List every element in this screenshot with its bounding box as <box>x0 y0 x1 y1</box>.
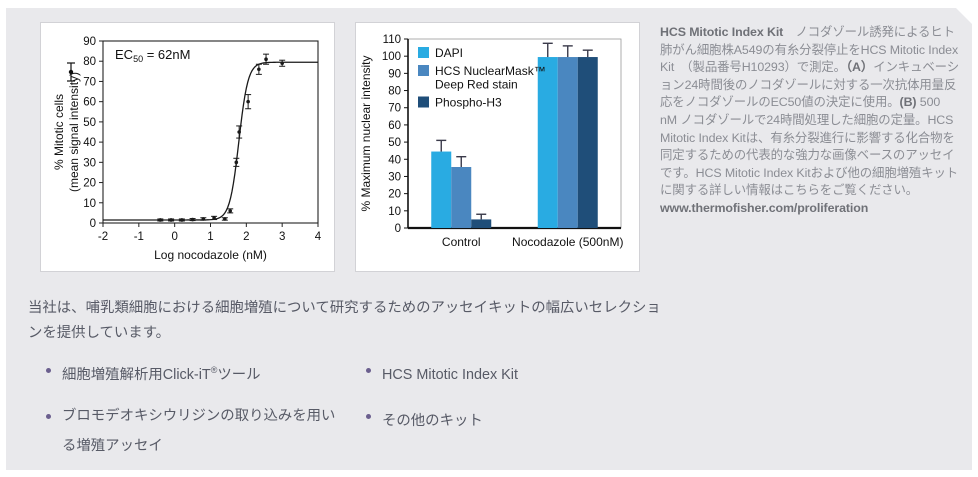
fitted-curve <box>103 62 318 220</box>
legend-swatch <box>418 65 429 76</box>
data-point <box>257 68 261 72</box>
data-point <box>235 161 239 165</box>
list-item[interactable]: 細胞増殖解析用Click-iT®ツール <box>42 358 342 388</box>
bullet-column-left: 細胞増殖解析用Click-iT®ツール ブロモデオキシウリジンの取り込みを用いる… <box>42 358 342 475</box>
data-point <box>180 218 184 222</box>
y-axis-label-line1: % Mitotic cells <box>52 94 66 170</box>
data-point <box>246 100 250 104</box>
body-paragraph: 当社は、哺乳類細胞における細胞増殖について研究するためのアッセイキットの幅広いセ… <box>28 296 668 346</box>
y-axis-label-line2: (mean signal intensity) <box>67 72 81 192</box>
bar <box>451 167 471 228</box>
bar <box>578 57 598 228</box>
y-tick-label: 40 <box>83 137 96 149</box>
figure-a-dose-response: 0102030405060708090-2-101234Log nocodazo… <box>40 22 335 272</box>
page-root: 0102030405060708090-2-101234Log nocodazo… <box>0 0 978 477</box>
description-label-a: （A） <box>846 60 873 74</box>
bar <box>431 152 451 228</box>
data-point <box>169 218 173 222</box>
ec50-subscript: 50 <box>133 54 143 64</box>
legend-swatch <box>418 97 429 108</box>
corner-fold <box>956 8 972 24</box>
description-label-b: (B) <box>900 95 917 109</box>
ec50-annotation: EC50 = 62nM <box>115 47 190 64</box>
data-point <box>159 218 163 222</box>
bar <box>471 219 491 228</box>
figure-b-svg: 0102030405060708090100110% Maximum nucle… <box>356 23 639 271</box>
data-point <box>202 217 206 221</box>
y-tick-label: 40 <box>388 154 401 166</box>
list-item[interactable]: ブロモデオキシウリジンの取り込みを用いる増殖アッセイ <box>42 404 342 459</box>
data-point <box>212 216 216 220</box>
x-tick-label: 2 <box>243 231 249 243</box>
y-tick-label: 80 <box>83 56 96 68</box>
legend-label: DAPI <box>435 46 463 60</box>
x-tick-label: 4 <box>315 231 322 243</box>
bar <box>558 57 578 228</box>
y-tick-label: 80 <box>388 86 401 98</box>
y-tick-label: 90 <box>388 68 401 80</box>
thermofisher-link[interactable]: www.thermofisher.com/proliferation <box>660 201 868 215</box>
data-point <box>191 218 195 222</box>
list-item[interactable]: その他のキット <box>362 404 662 434</box>
y-tick-label: 90 <box>83 36 96 48</box>
y-tick-label: 30 <box>388 171 401 183</box>
ec50-value: = 62nM <box>143 47 190 62</box>
y-tick-label: 10 <box>83 198 96 210</box>
x-tick-label: -1 <box>134 231 144 243</box>
y-tick-label: 60 <box>388 120 401 132</box>
x-tick-label: 3 <box>279 231 285 243</box>
list-item[interactable]: HCS Mitotic Index Kit <box>362 358 662 388</box>
y-tick-label: 100 <box>382 51 401 63</box>
legend-label: Phospho-H3 <box>435 96 502 110</box>
data-point <box>223 217 227 221</box>
bullet-text: ブロモデオキシウリジンの取り込みを用いる増殖アッセイ <box>62 408 335 454</box>
bullet-text: 細胞増殖解析用Click-iT <box>62 367 211 383</box>
data-point <box>264 57 268 61</box>
legend-label: Deep Red stain <box>435 78 518 92</box>
y-tick-label: 0 <box>90 218 96 230</box>
y-tick-label: 50 <box>388 137 401 149</box>
data-point <box>237 130 241 134</box>
description-title: HCS Mitotic Index Kit <box>660 25 783 39</box>
y-tick-label: 30 <box>83 157 96 169</box>
y-tick-label: 10 <box>388 206 401 218</box>
y-tick-label: 110 <box>383 34 401 46</box>
legend-label: HCS NuclearMask™ <box>435 64 546 78</box>
data-point <box>228 209 232 213</box>
x-tick-label: -2 <box>98 231 108 243</box>
plot-frame <box>103 41 318 223</box>
y-tick-label: 50 <box>83 117 96 129</box>
y-tick-label: 70 <box>388 103 401 115</box>
y-tick-label: 20 <box>388 189 401 201</box>
bullet-text: HCS Mitotic Index Kit <box>382 367 518 383</box>
y-tick-label: 60 <box>83 97 96 109</box>
bullet-text-post: ツール <box>217 367 260 383</box>
x-axis-label: Log nocodazole (nM) <box>154 248 267 262</box>
legend-swatch <box>418 47 429 58</box>
bar <box>538 57 558 228</box>
data-point <box>280 61 284 65</box>
errorbar-legend-dot <box>69 70 73 74</box>
description-text: HCS Mitotic Index Kit ノコダゾール誘発によるヒト肺がん細胞… <box>660 24 960 218</box>
figure-b-bar-chart: 0102030405060708090100110% Maximum nucle… <box>355 22 640 272</box>
bullet-text: その他のキット <box>382 413 483 429</box>
y-tick-label: 0 <box>395 223 401 235</box>
figure-a-svg: 0102030405060708090-2-101234Log nocodazo… <box>41 23 334 271</box>
x-tick-label: 1 <box>207 231 213 243</box>
y-axis-label: % Maximum nuclear intensity <box>359 55 373 211</box>
x-category-label: Nocodazole (500nM) <box>512 235 623 249</box>
y-tick-label: 70 <box>83 76 96 88</box>
x-tick-label: 0 <box>171 231 177 243</box>
y-tick-label: 20 <box>83 178 96 190</box>
description-paragraph-3: 500 nM ノコダゾールで24時間処理した細胞の定量。HCS Mitotic … <box>660 95 958 197</box>
bullet-column-right: HCS Mitotic Index Kit その他のキット <box>362 358 662 450</box>
x-category-label: Control <box>442 235 481 249</box>
